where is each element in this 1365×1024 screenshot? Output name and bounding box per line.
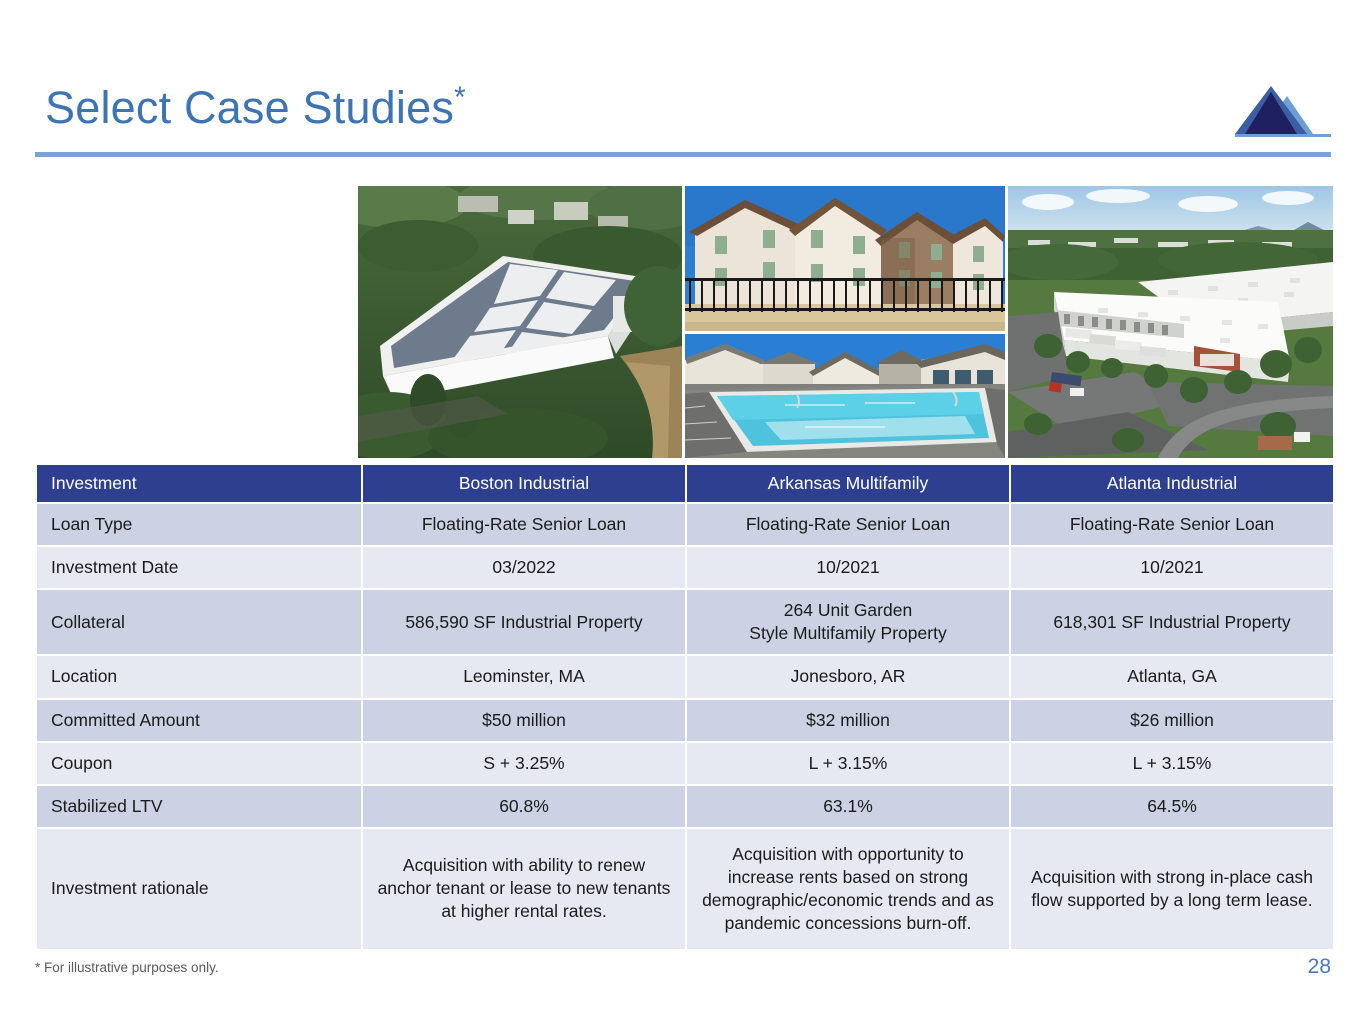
table-row: Coupon S + 3.25% L + 3.15% L + 3.15% [37, 743, 1333, 784]
cell-rationale-arkansas: Acquisition with opportunity to increase… [687, 829, 1009, 949]
table-row: Collateral 586,590 SF Industrial Propert… [37, 590, 1333, 654]
cell-committed-amount-atlanta: $26 million [1011, 700, 1333, 741]
row-label-loan-type: Loan Type [37, 504, 361, 545]
cell-loan-type-boston: Floating-Rate Senior Loan [363, 504, 685, 545]
cell-investment-date-atlanta: 10/2021 [1011, 547, 1333, 588]
table-row: Investment rationale Acquisition with ab… [37, 829, 1333, 949]
page-number: 28 [1308, 955, 1331, 979]
cell-investment-date-arkansas: 10/2021 [687, 547, 1009, 588]
row-label-location: Location [37, 656, 361, 697]
footnote: * For illustrative purposes only. [35, 960, 219, 975]
row-label-investment-date: Investment Date [37, 547, 361, 588]
cell-location-arkansas: Jonesboro, AR [687, 656, 1009, 697]
row-label-stabilized-ltv: Stabilized LTV [37, 786, 361, 827]
table-row: Loan Type Floating-Rate Senior Loan Floa… [37, 504, 1333, 545]
atlanta-industrial-aerial-photo [1008, 186, 1333, 458]
cell-committed-amount-boston: $50 million [363, 700, 685, 741]
cell-investment-date-boston: 03/2022 [363, 547, 685, 588]
slide: Select Case Studies* [0, 0, 1365, 1024]
row-label-committed-amount: Committed Amount [37, 700, 361, 741]
header-cell-arkansas: Arkansas Multifamily [687, 465, 1009, 502]
mountain-logo [1235, 82, 1331, 144]
arkansas-multifamily-building-photo [685, 186, 1005, 331]
table-row: Investment Date 03/2022 10/2021 10/2021 [37, 547, 1333, 588]
table-row: Committed Amount $50 million $32 million… [37, 700, 1333, 741]
cell-stabilized-ltv-atlanta: 64.5% [1011, 786, 1333, 827]
photo-strip [358, 186, 1333, 458]
arkansas-photo-column [685, 186, 1005, 458]
table-header-row: Investment Boston Industrial Arkansas Mu… [37, 465, 1333, 502]
row-label-coupon: Coupon [37, 743, 361, 784]
arkansas-multifamily-pool-photo [685, 334, 1005, 458]
cell-collateral-arkansas: 264 Unit GardenStyle Multifamily Propert… [687, 590, 1009, 654]
cell-coupon-atlanta: L + 3.15% [1011, 743, 1333, 784]
cell-committed-amount-arkansas: $32 million [687, 700, 1009, 741]
title-divider [35, 152, 1331, 157]
page-title-asterisk: * [454, 81, 466, 114]
cell-loan-type-atlanta: Floating-Rate Senior Loan [1011, 504, 1333, 545]
header-cell-boston: Boston Industrial [363, 465, 685, 502]
header-cell-investment: Investment [37, 465, 361, 502]
cell-rationale-boston: Acquisition with ability to renew anchor… [363, 829, 685, 949]
boston-industrial-aerial-photo [358, 186, 682, 458]
cell-collateral-boston: 586,590 SF Industrial Property [363, 590, 685, 654]
page-title: Select Case Studies* [45, 82, 466, 134]
row-label-collateral: Collateral [37, 590, 361, 654]
cell-rationale-atlanta: Acquisition with strong in-place cash fl… [1011, 829, 1333, 949]
table-row: Location Leominster, MA Jonesboro, AR At… [37, 656, 1333, 697]
row-label-investment-rationale: Investment rationale [37, 829, 361, 949]
cell-stabilized-ltv-boston: 60.8% [363, 786, 685, 827]
cell-coupon-arkansas: L + 3.15% [687, 743, 1009, 784]
cell-location-atlanta: Atlanta, GA [1011, 656, 1333, 697]
cell-location-boston: Leominster, MA [363, 656, 685, 697]
case-studies-table: Investment Boston Industrial Arkansas Mu… [35, 463, 1335, 951]
table-row: Stabilized LTV 60.8% 63.1% 64.5% [37, 786, 1333, 827]
cell-loan-type-arkansas: Floating-Rate Senior Loan [687, 504, 1009, 545]
page-title-text: Select Case Studies [45, 82, 454, 133]
header-cell-atlanta: Atlanta Industrial [1011, 465, 1333, 502]
cell-collateral-atlanta: 618,301 SF Industrial Property [1011, 590, 1333, 654]
cell-stabilized-ltv-arkansas: 63.1% [687, 786, 1009, 827]
cell-coupon-boston: S + 3.25% [363, 743, 685, 784]
